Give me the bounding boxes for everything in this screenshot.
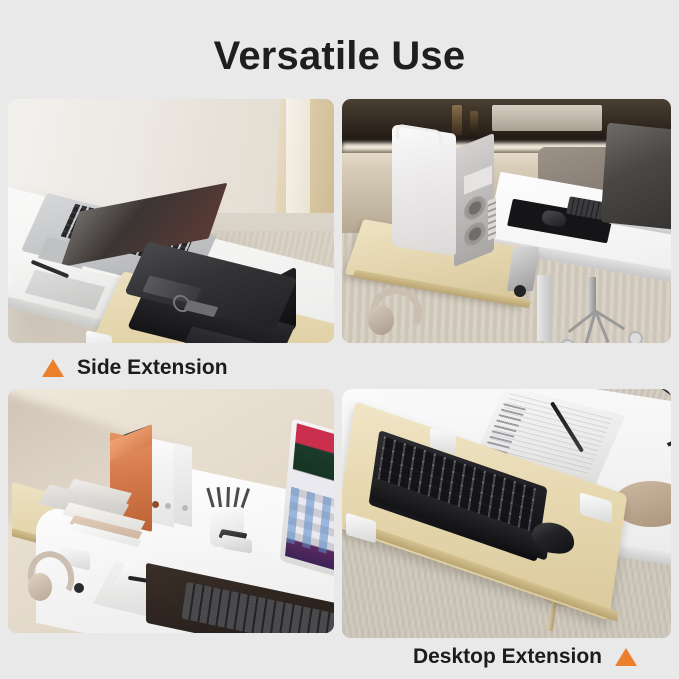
shelf-bottle-small	[470, 111, 478, 135]
triangle-up-icon	[42, 359, 64, 377]
chair-caster	[628, 331, 643, 343]
file-holder-hole	[182, 505, 188, 511]
page-title: Versatile Use	[0, 30, 679, 82]
pc-port-panel	[488, 197, 496, 240]
file-holder-white-front	[152, 438, 174, 527]
file-holder-white-back	[174, 443, 192, 527]
scene-pc-tower-on-side-extension	[342, 99, 671, 343]
panel-bottom-left[interactable]	[8, 389, 334, 633]
panel-bottom-right[interactable]	[342, 389, 671, 638]
product-feature-page: Versatile Use	[0, 0, 679, 679]
panel-top-left[interactable]	[8, 99, 334, 343]
screen-app-grid	[286, 487, 334, 562]
chair-base	[548, 305, 640, 343]
triangle-up-icon	[615, 648, 637, 666]
caption-side-extension: Side Extension	[42, 356, 228, 380]
pc-tower-face	[392, 124, 456, 256]
scene-printer-on-side-extension	[8, 99, 334, 343]
shelf-bottle	[452, 105, 462, 135]
caption-label: Side Extension	[77, 356, 228, 380]
caption-label: Desktop Extension	[413, 645, 602, 669]
caption-desktop-extension: Desktop Extension	[413, 645, 637, 669]
clamp-knob	[74, 583, 84, 593]
scene-keyboard-tray-desktop-extension	[342, 389, 671, 638]
chair-caster	[560, 339, 575, 343]
file-holder-hole	[152, 501, 159, 508]
scene-desk-organizer-on-side-extension	[8, 389, 334, 633]
monitor	[601, 123, 671, 232]
shelf-books	[492, 105, 602, 131]
headphones-earcup	[368, 305, 394, 335]
headphones-earcup	[28, 573, 52, 601]
clamp-knob	[514, 285, 526, 297]
panel-top-right[interactable]	[342, 99, 671, 343]
file-holder-hole	[165, 503, 171, 509]
